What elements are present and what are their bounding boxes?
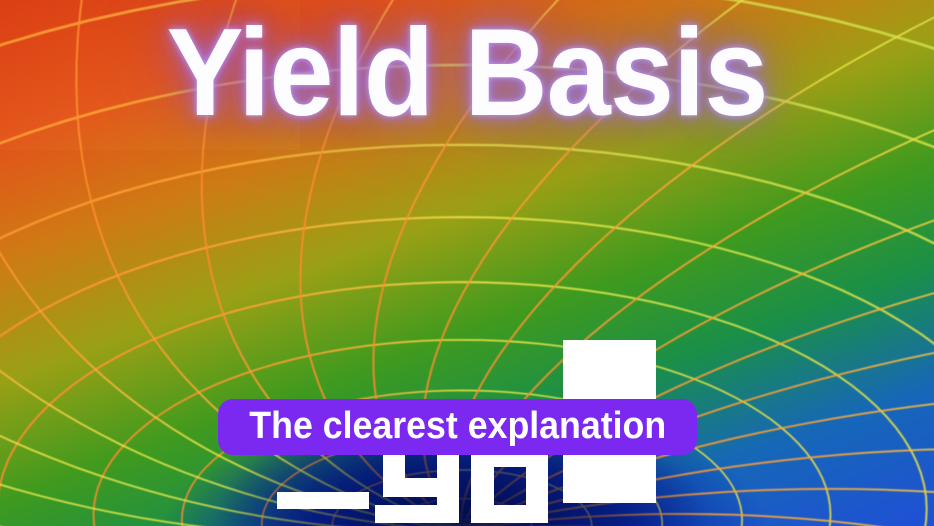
subtitle-badge-label: The clearest explanation — [249, 407, 666, 445]
subtitle-badge[interactable]: The clearest explanation — [218, 399, 697, 455]
prompt-underscore-glyph — [277, 492, 369, 509]
letter-y-crossbar — [383, 478, 437, 497]
yb-logo-glyphs — [0, 160, 934, 360]
page-title: Yield Basis — [33, 8, 902, 138]
letter-y-descender — [375, 505, 450, 523]
yb-logo — [0, 160, 934, 360]
thumbnail-canvas: Yield Basis The clearest explanation — [0, 0, 934, 526]
letter-b-bowl-right — [526, 448, 548, 505]
letter-b-bowl-bottom — [494, 505, 548, 523]
